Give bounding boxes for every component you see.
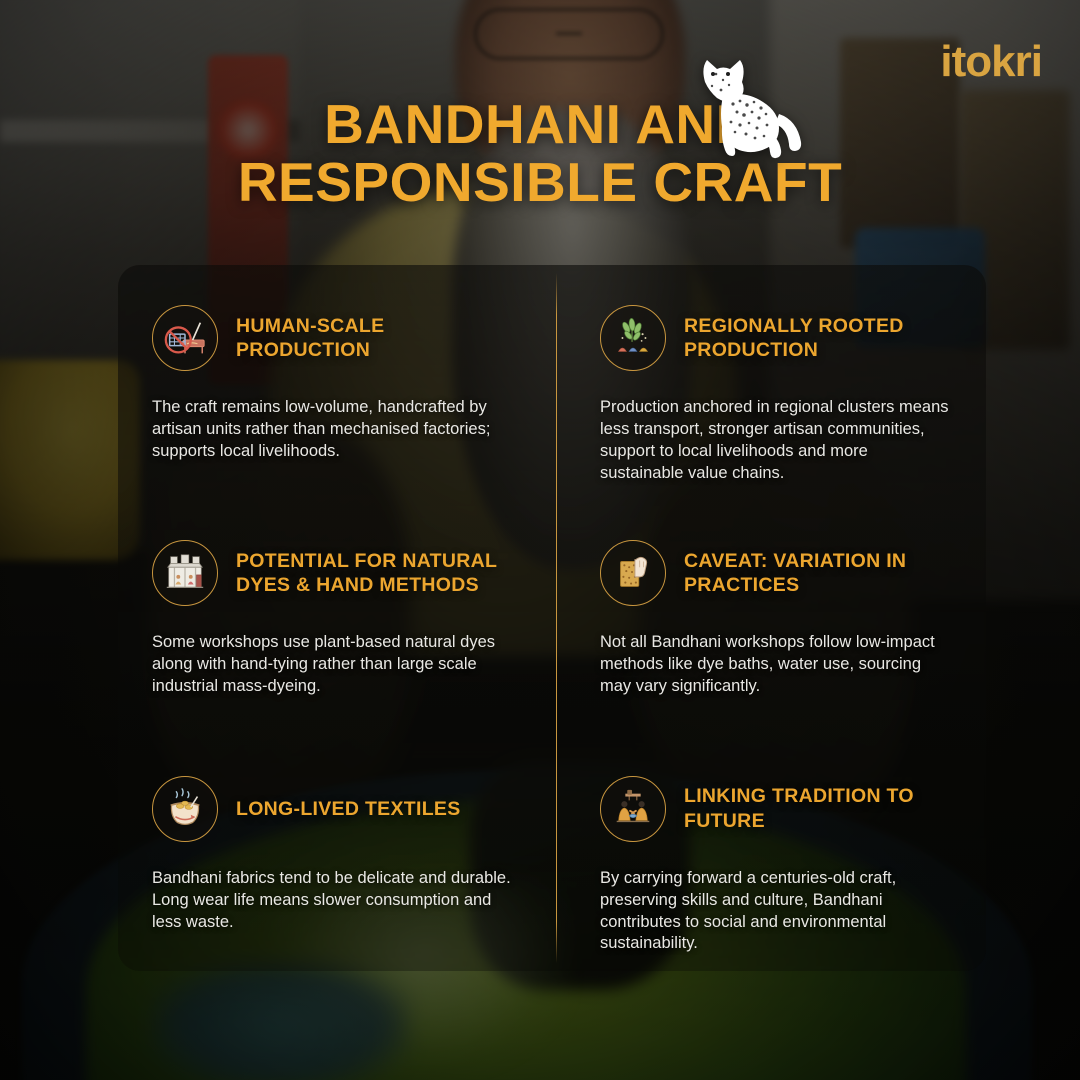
card-header: REGIONALLY ROOTED PRODUCTION [600,305,952,371]
poster-title: BANDHANI AND RESPONSIBLE CRAFT [0,96,1080,212]
cards-grid: HUMAN-SCALE PRODUCTION The craft remains… [118,265,986,971]
brand-logo[interactable]: itokri [940,40,1042,84]
brand-logo-text: itokri [940,40,1042,84]
title-line-2: RESPONSIBLE CRAFT [0,154,1080,212]
card-body: Not all Bandhani workshops follow low-im… [600,632,952,698]
card-caveat-variation-in-practices: CAVEAT: VARIATION IN PRACTICES Not all B… [552,500,986,735]
card-title: POTENTIAL FOR NATURAL DYES & HAND METHOD… [236,549,518,597]
card-title: HUMAN-SCALE PRODUCTION [236,314,518,362]
card-title: LONG-LIVED TEXTILES [236,797,461,821]
card-regionally-rooted-production: REGIONALLY ROOTED PRODUCTION Production … [552,265,986,500]
cat-icon [683,52,807,164]
card-title: REGIONALLY ROOTED PRODUCTION [684,314,952,362]
content-panel: HUMAN-SCALE PRODUCTION The craft remains… [118,265,986,971]
card-title: LINKING TRADITION TO FUTURE [684,784,952,832]
card-body: Some workshops use plant-based natural d… [152,632,518,698]
steaming-dye-pot-icon [152,776,218,842]
no-factory-icon [152,305,218,371]
card-body: Bandhani fabrics tend to be delicate and… [152,868,518,934]
card-header: LINKING TRADITION TO FUTURE [600,776,952,842]
card-header: HUMAN-SCALE PRODUCTION [152,305,518,371]
two-artisans-icon [600,776,666,842]
card-linking-tradition-to-future: LINKING TRADITION TO FUTURE By carrying … [552,736,986,971]
card-human-scale-production: HUMAN-SCALE PRODUCTION The craft remains… [118,265,552,500]
card-body: Production anchored in regional clusters… [600,397,952,485]
card-natural-dyes-hand-methods: POTENTIAL FOR NATURAL DYES & HAND METHOD… [118,500,552,735]
infographic-poster: itokri BANDHANI AND RESPONSIBLE CRAFT [0,0,1080,1080]
workshop-building-icon [152,540,218,606]
hand-holding-fabric-icon [600,540,666,606]
card-header: POTENTIAL FOR NATURAL DYES & HAND METHOD… [152,540,518,606]
card-body: The craft remains low-volume, handcrafte… [152,397,518,463]
card-header: CAVEAT: VARIATION IN PRACTICES [600,540,952,606]
plant-leaves-spices-icon [600,305,666,371]
card-long-lived-textiles: LONG-LIVED TEXTILES Bandhani fabrics ten… [118,736,552,971]
card-title: CAVEAT: VARIATION IN PRACTICES [684,549,952,597]
card-header: LONG-LIVED TEXTILES [152,776,518,842]
card-body: By carrying forward a centuries-old craf… [600,868,952,956]
